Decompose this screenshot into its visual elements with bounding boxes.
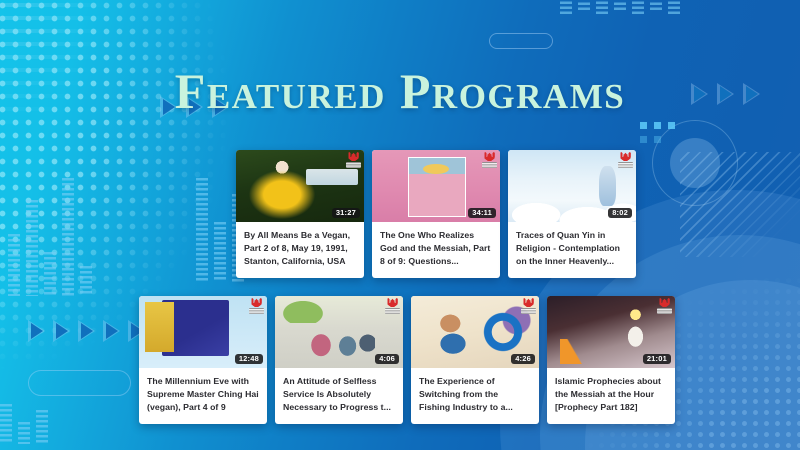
- program-thumbnail[interactable]: 4:06: [275, 296, 403, 368]
- ring-fill-icon: [670, 138, 720, 188]
- program-card[interactable]: 4:26 The Experience of Switching from th…: [411, 296, 539, 424]
- duration-badge: 21:01: [643, 354, 671, 365]
- featured-row-2: 12:48 The Millennium Eve with Supreme Ma…: [139, 296, 675, 424]
- play-triangle-icon: [53, 320, 70, 342]
- program-thumbnail[interactable]: 34:11: [372, 150, 500, 222]
- program-title: Traces of Quan Yin in Religion - Contemp…: [508, 222, 636, 278]
- program-title: By All Means Be a Vegan, Part 2 of 8, Ma…: [236, 222, 364, 278]
- program-card[interactable]: 12:48 The Millennium Eve with Supreme Ma…: [139, 296, 267, 424]
- program-card[interactable]: 34:11 The One Who Realizes God and the M…: [372, 150, 500, 278]
- page-title: Featured Programs: [0, 62, 800, 120]
- duration-badge: 4:06: [375, 354, 399, 365]
- program-title: The One Who Realizes God and the Messiah…: [372, 222, 500, 278]
- program-card[interactable]: 31:27 By All Means Be a Vegan, Part 2 of…: [236, 150, 364, 278]
- featured-row-1: 31:27 By All Means Be a Vegan, Part 2 of…: [236, 150, 636, 278]
- program-thumbnail[interactable]: 21:01: [547, 296, 675, 368]
- supreme-master-tv-logo-icon: [482, 152, 497, 169]
- program-title: The Experience of Switching from the Fis…: [411, 368, 539, 424]
- program-title: The Millennium Eve with Supreme Master C…: [139, 368, 267, 424]
- program-thumbnail[interactable]: 31:27: [236, 150, 364, 222]
- supreme-master-tv-logo-icon: [618, 152, 633, 169]
- pill-outline-top: [489, 33, 553, 49]
- square-dots-decoration: [640, 122, 675, 143]
- pill-outline-bottom: [28, 370, 131, 396]
- duration-badge: 4:26: [511, 354, 535, 365]
- program-card[interactable]: 8:02 Traces of Quan Yin in Religion - Co…: [508, 150, 636, 278]
- program-thumbnail[interactable]: 8:02: [508, 150, 636, 222]
- supreme-master-tv-logo-icon: [346, 152, 361, 169]
- supreme-master-tv-logo-icon: [385, 298, 400, 315]
- play-triangle-icon: [28, 320, 45, 342]
- equalizer-bars-top: [560, 0, 680, 14]
- program-title: Islamic Prophecies about the Messiah at …: [547, 368, 675, 424]
- program-card[interactable]: 4:06 An Attitude of Selfless Service Is …: [275, 296, 403, 424]
- equalizer-bars-left: [8, 178, 92, 296]
- duration-badge: 34:11: [468, 208, 496, 219]
- play-triangle-icon: [78, 320, 95, 342]
- duration-badge: 31:27: [332, 208, 360, 219]
- equalizer-bars-bottom: [0, 404, 48, 444]
- program-card[interactable]: 21:01 Islamic Prophecies about the Messi…: [547, 296, 675, 424]
- supreme-master-tv-logo-icon: [249, 298, 264, 315]
- program-title: An Attitude of Selfless Service Is Absol…: [275, 368, 403, 424]
- program-thumbnail[interactable]: 12:48: [139, 296, 267, 368]
- play-triangle-icon: [103, 320, 120, 342]
- supreme-master-tv-logo-icon: [657, 298, 672, 315]
- supreme-master-tv-logo-icon: [521, 298, 536, 315]
- featured-programs-screen: Featured Programs 31:27 By All Means Be …: [0, 0, 800, 450]
- program-thumbnail[interactable]: 4:26: [411, 296, 539, 368]
- duration-badge: 12:48: [235, 354, 263, 365]
- duration-badge: 8:02: [608, 208, 632, 219]
